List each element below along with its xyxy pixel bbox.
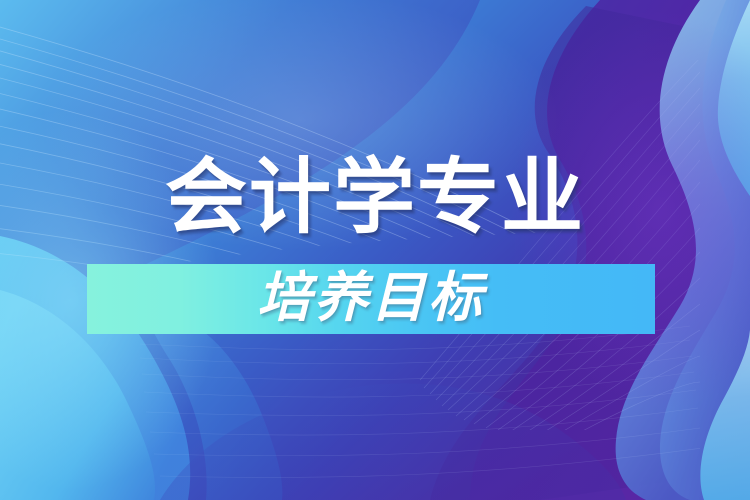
subtitle-text: 培养目标 (257, 267, 485, 329)
page-title: 会计学专业 (0, 148, 750, 248)
subtitle-banner-bar: 培养目标 (87, 264, 655, 334)
banner-graphic: 会计学专业 培养目标 (0, 0, 750, 500)
banner-content: 会计学专业 培养目标 (0, 0, 750, 500)
